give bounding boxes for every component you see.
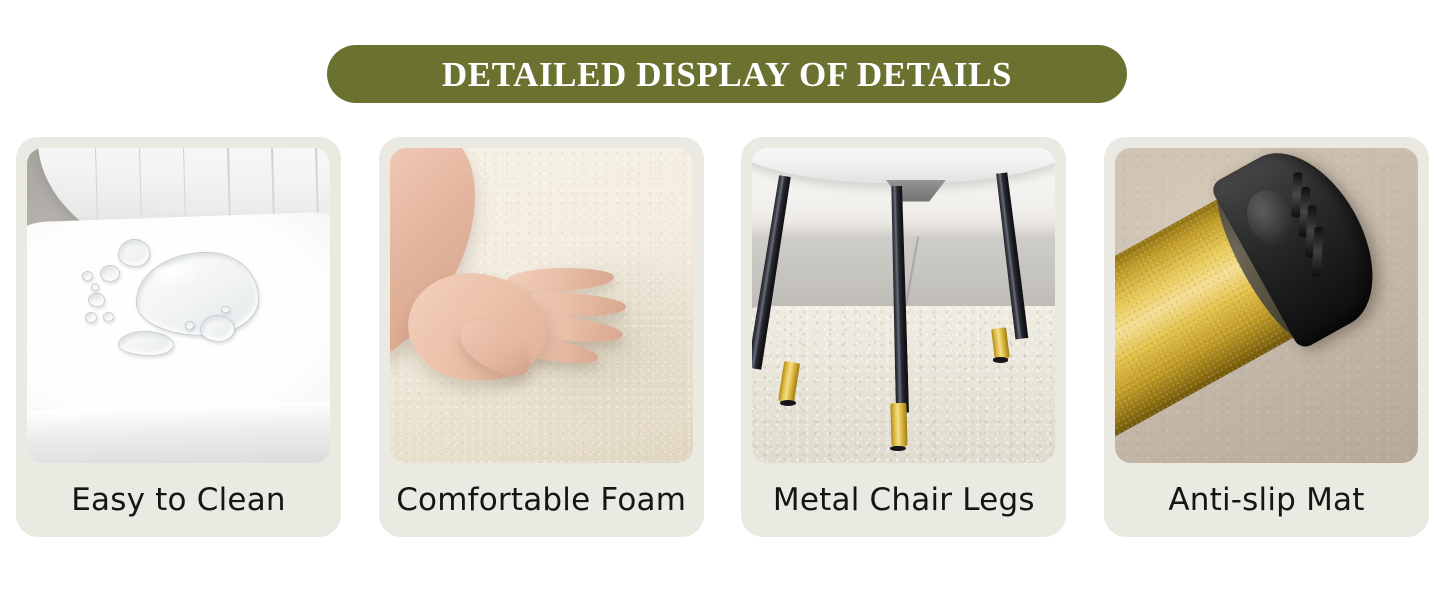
water-droplet-icon xyxy=(118,239,150,266)
photo-easy-to-clean xyxy=(27,148,330,463)
water-droplet-icon xyxy=(82,271,94,281)
detail-display-page: DETAILED DISPLAY OF DETAILS xyxy=(0,0,1445,592)
gold-tip-icon xyxy=(890,403,907,447)
feature-label-metal-chair-legs: Metal Chair Legs xyxy=(773,463,1035,537)
photo-comfortable-foam xyxy=(390,148,693,463)
water-droplet-icon xyxy=(85,312,97,323)
photo-anti-slip-mat xyxy=(1115,148,1418,463)
water-droplet-icon xyxy=(221,306,230,314)
feature-label-comfortable-foam: Comfortable Foam xyxy=(396,463,686,537)
feature-label-easy-to-clean: Easy to Clean xyxy=(71,463,285,537)
feature-card-anti-slip-mat: Anti-slip Mat xyxy=(1104,137,1429,537)
photo-metal-chair-legs xyxy=(752,148,1055,463)
feature-label-anti-slip-mat: Anti-slip Mat xyxy=(1168,463,1364,537)
feature-card-easy-to-clean: Easy to Clean xyxy=(16,137,341,537)
water-droplet-icon xyxy=(200,315,235,342)
water-droplet-icon xyxy=(88,293,105,308)
water-droplet-icon xyxy=(100,265,120,283)
feature-card-comfortable-foam: Comfortable Foam xyxy=(379,137,704,537)
water-droplet-icon xyxy=(185,321,194,329)
feature-card-row: Easy to Clean Comfortable Foam xyxy=(16,137,1429,537)
feature-card-metal-chair-legs: Metal Chair Legs xyxy=(741,137,1066,537)
page-title: DETAILED DISPLAY OF DETAILS xyxy=(442,57,1012,92)
section-title-banner: DETAILED DISPLAY OF DETAILS xyxy=(327,45,1127,103)
water-droplet-icon xyxy=(118,331,175,357)
